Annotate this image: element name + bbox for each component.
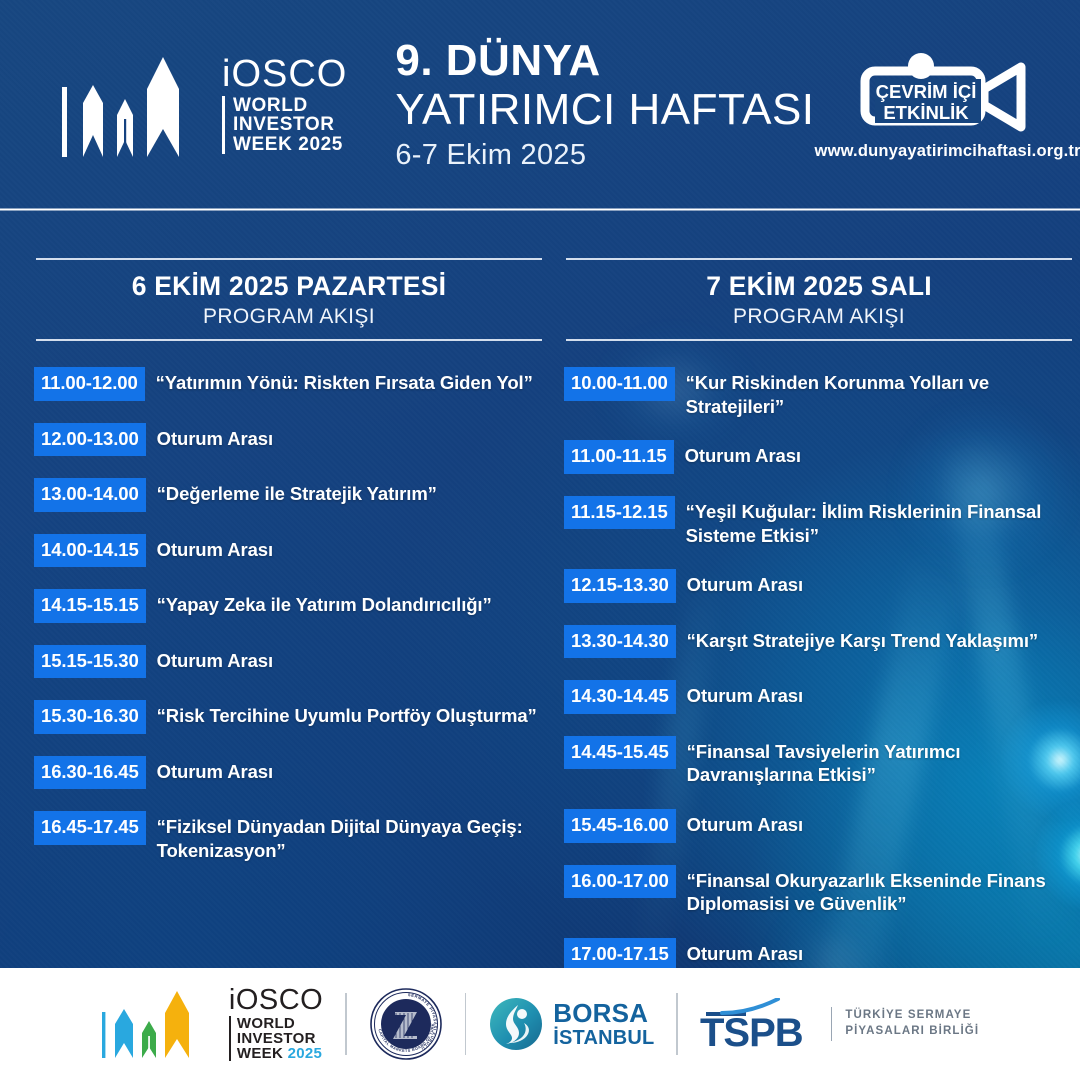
online-event-line2-text: ETKİNLİK <box>883 102 969 123</box>
iosco-footer-line3: WEEK 2025 <box>237 1046 323 1061</box>
iosco-tagline-line2: INVESTOR <box>233 115 347 134</box>
borsa-line1: BORSA <box>553 1000 654 1026</box>
footer-divider-1 <box>345 993 347 1055</box>
schedule-topic: “Değerleme ile Stratejik Yatırım” <box>146 478 437 506</box>
schedule-row: 17.00-17.15Oturum Arası <box>564 938 1074 972</box>
schedule-row: 14.00-14.15Oturum Arası <box>34 534 544 568</box>
online-event-block: ÇEVRİM İÇİ ETKİNLİK www.dunyayatirimciha… <box>815 49 1080 161</box>
schedule-column-day1: 6 EKİM 2025 PAZARTESİ PROGRAM AKIŞI 11.0… <box>34 258 544 1067</box>
schedule-row: 14.30-14.45Oturum Arası <box>564 680 1074 714</box>
schedule-topic: Oturum Arası <box>146 645 273 673</box>
iosco-footer-tagline: WORLD INVESTOR WEEK 2025 <box>229 1016 323 1061</box>
schedule-time-badge: 17.00-17.15 <box>564 938 676 972</box>
schedule-row: 13.30-14.30“Karşıt Stratejiye Karşı Tren… <box>564 625 1074 659</box>
footer-tspb-logo: TSPB TÜRKİYE SERMAYE PİYASALARI BİRLİĞİ <box>700 998 979 1051</box>
schedule-topic: Oturum Arası <box>676 680 803 708</box>
schedule-topic: Oturum Arası <box>674 440 801 468</box>
footer-divider-2 <box>465 993 467 1055</box>
iosco-footer-name: iOSCO <box>229 987 323 1013</box>
schedule-time-badge: 10.00-11.00 <box>564 367 675 401</box>
schedule-row: 13.00-14.00“Değerleme ile Stratejik Yatı… <box>34 478 544 512</box>
schedule-topic: “Yapay Zeka ile Yatırım Dolandırıcılığı” <box>146 589 492 617</box>
sponsor-footer: iOSCO WORLD INVESTOR WEEK 2025 <box>0 968 1080 1080</box>
event-date: 6-7 Ekim 2025 <box>395 139 814 172</box>
schedule-row: 11.00-11.15Oturum Arası <box>564 440 1074 474</box>
schedule-topic: Oturum Arası <box>146 534 273 562</box>
poster-header: iOSCO WORLD INVESTOR WEEK 2025 9. DÜNYA … <box>0 0 1080 210</box>
iosco-tagline: WORLD INVESTOR WEEK 2025 <box>222 96 347 154</box>
schedule-time-badge: 13.30-14.30 <box>564 625 676 659</box>
schedule-time-badge: 16.00-17.00 <box>564 865 676 899</box>
schedule-time-badge: 12.00-13.00 <box>34 423 146 457</box>
poster-root: iOSCO WORLD INVESTOR WEEK 2025 9. DÜNYA … <box>0 0 1080 1080</box>
schedule-row: 12.00-13.00Oturum Arası <box>34 423 544 457</box>
schedule-topic: “Fiziksel Dünyadan Dijital Dünyaya Geçiş… <box>146 811 544 862</box>
iosco-name: iOSCO <box>222 56 347 92</box>
day1-title: 6 EKİM 2025 PAZARTESİ <box>36 260 542 303</box>
schedule-row: 15.15-15.30Oturum Arası <box>34 645 544 679</box>
day2-header: 7 EKİM 2025 SALI PROGRAM AKIŞI <box>564 258 1074 341</box>
event-title-block: 9. DÜNYA YATIRIMCI HAFTASI 6-7 Ekim 2025 <box>395 38 814 172</box>
schedule-time-badge: 11.00-12.00 <box>34 367 145 401</box>
iosco-footer-year: 2025 <box>288 1045 323 1062</box>
iosco-rocket-logo-icon <box>60 45 212 165</box>
schedule-topic: “Kur Riskinden Korunma Yolları ve Strate… <box>675 367 1074 418</box>
website-url[interactable]: www.dunyayatirimcihaftasi.org.tr <box>815 142 1080 161</box>
online-event-line1-text: ÇEVRİM İÇİ <box>875 81 976 102</box>
event-title-line2: YATIRIMCI HAFTASI <box>395 85 814 134</box>
schedule-time-badge: 15.45-16.00 <box>564 809 676 843</box>
footer-divider-3 <box>676 993 678 1055</box>
day2-rows: 10.00-11.00“Kur Riskinden Korunma Yollar… <box>564 367 1074 1045</box>
schedule-topic: Oturum Arası <box>676 809 803 837</box>
iosco-header-logo: iOSCO WORLD INVESTOR WEEK 2025 <box>60 45 347 165</box>
tspb-fullname-line1: TÜRKİYE SERMAYE <box>845 1008 979 1024</box>
borsa-wordmark: BORSA İSTANBUL <box>553 1000 654 1048</box>
schedule-row: 10.00-11.00“Kur Riskinden Korunma Yollar… <box>564 367 1074 418</box>
tspb-fullname-line2: PİYASALARI BİRLİĞİ <box>845 1024 979 1040</box>
schedule-topic: “Yatırımın Yönü: Riskten Fırsata Giden Y… <box>145 367 533 395</box>
schedule-topic: Oturum Arası <box>676 569 803 597</box>
day1-rule-top <box>36 258 542 260</box>
day2-title: 7 EKİM 2025 SALI <box>566 260 1072 303</box>
schedule-topic: Oturum Arası <box>146 756 273 784</box>
schedule-content: 6 EKİM 2025 PAZARTESİ PROGRAM AKIŞI 11.0… <box>0 210 1080 1067</box>
day1-rule-bottom <box>36 339 542 341</box>
tspb-mark: TSPB <box>700 1015 818 1051</box>
schedule-row: 11.00-12.00“Yatırımın Yönü: Riskten Fırs… <box>34 367 544 401</box>
tspb-mark-wrap: TSPB <box>700 998 818 1051</box>
day1-rows: 11.00-12.00“Yatırımın Yönü: Riskten Fırs… <box>34 367 544 862</box>
iosco-footer-line2: INVESTOR <box>237 1031 323 1046</box>
schedule-time-badge: 15.30-16.30 <box>34 700 146 734</box>
schedule-topic: Oturum Arası <box>676 938 803 966</box>
event-title-line1: 9. DÜNYA <box>395 38 814 85</box>
day2-rule-top <box>566 258 1072 260</box>
schedule-row: 15.45-16.00Oturum Arası <box>564 809 1074 843</box>
iosco-footer-week: WEEK <box>237 1045 283 1062</box>
iosco-tagline-line3: WEEK 2025 <box>233 135 347 154</box>
schedule-time-badge: 12.15-13.30 <box>564 569 676 603</box>
day1-subtitle: PROGRAM AKIŞI <box>36 303 542 339</box>
borsa-line2: İSTANBUL <box>553 1028 654 1048</box>
tspb-inner-divider <box>831 1007 832 1041</box>
schedule-row: 14.45-15.45“Finansal Tavsiyelerin Yatırı… <box>564 736 1074 787</box>
header-divider <box>0 208 1080 211</box>
schedule-topic: “Finansal Tavsiyelerin Yatırımcı Davranı… <box>676 736 1074 787</box>
day2-rule-bottom <box>566 339 1072 341</box>
schedule-row: 16.30-16.45Oturum Arası <box>34 756 544 790</box>
iosco-rocket-logo-color-icon <box>101 986 221 1062</box>
online-event-badge: ÇEVRİM İÇİ ETKİNLİK <box>853 49 1043 133</box>
iosco-footer-line1: WORLD <box>237 1016 323 1031</box>
iosco-footer-wordmark: iOSCO WORLD INVESTOR WEEK 2025 <box>229 987 323 1061</box>
iosco-tagline-line1: WORLD <box>233 96 347 115</box>
footer-iosco-logo: iOSCO WORLD INVESTOR WEEK 2025 <box>101 986 323 1062</box>
schedule-time-badge: 14.00-14.15 <box>34 534 146 568</box>
tspb-fullname: TÜRKİYE SERMAYE PİYASALARI BİRLİĞİ <box>845 1008 979 1039</box>
day2-subtitle: PROGRAM AKIŞI <box>566 303 1072 339</box>
schedule-topic: “Yeşil Kuğular: İklim Risklerinin Finans… <box>675 496 1074 547</box>
schedule-topic: Oturum Arası <box>146 423 273 451</box>
spk-seal-icon: SERMAYE PİYASASI KURULU CAPITAL MARKETS … <box>369 987 443 1061</box>
video-camera-icon: ÇEVRİM İÇİ ETKİNLİK <box>853 49 1043 133</box>
schedule-time-badge: 14.45-15.45 <box>564 736 676 770</box>
schedule-time-badge: 11.00-11.15 <box>564 440 674 474</box>
iosco-wordmark: iOSCO WORLD INVESTOR WEEK 2025 <box>222 56 347 154</box>
schedule-topic: “Karşıt Stratejiye Karşı Trend Yaklaşımı… <box>676 625 1038 653</box>
schedule-time-badge: 13.00-14.00 <box>34 478 146 512</box>
schedule-topic: “Finansal Okuryazarlık Ekseninde Finans … <box>676 865 1074 916</box>
schedule-time-badge: 16.30-16.45 <box>34 756 146 790</box>
day1-header: 6 EKİM 2025 PAZARTESİ PROGRAM AKIŞI <box>34 258 544 341</box>
schedule-column-day2: 7 EKİM 2025 SALI PROGRAM AKIŞI 10.00-11.… <box>564 258 1074 1067</box>
schedule-time-badge: 14.30-14.45 <box>564 680 676 714</box>
schedule-time-badge: 11.15-12.15 <box>564 496 675 530</box>
schedule-topic: “Risk Tercihine Uyumlu Portföy Oluşturma… <box>146 700 537 728</box>
schedule-time-badge: 15.15-15.30 <box>34 645 146 679</box>
schedule-row: 11.15-12.15“Yeşil Kuğular: İklim Riskler… <box>564 496 1074 547</box>
footer-spk-logo: SERMAYE PİYASASI KURULU CAPITAL MARKETS … <box>369 987 443 1061</box>
schedule-row: 16.45-17.45“Fiziksel Dünyadan Dijital Dü… <box>34 811 544 862</box>
schedule-row: 14.15-15.15“Yapay Zeka ile Yatırım Dolan… <box>34 589 544 623</box>
schedule-row: 16.00-17.00“Finansal Okuryazarlık Ekseni… <box>564 865 1074 916</box>
schedule-row: 15.30-16.30“Risk Tercihine Uyumlu Portfö… <box>34 700 544 734</box>
schedule-time-badge: 14.15-15.15 <box>34 589 146 623</box>
schedule-time-badge: 16.45-17.45 <box>34 811 146 845</box>
footer-borsa-logo: BORSA İSTANBUL <box>488 996 654 1052</box>
borsa-istanbul-icon <box>488 996 544 1052</box>
schedule-row: 12.15-13.30Oturum Arası <box>564 569 1074 603</box>
